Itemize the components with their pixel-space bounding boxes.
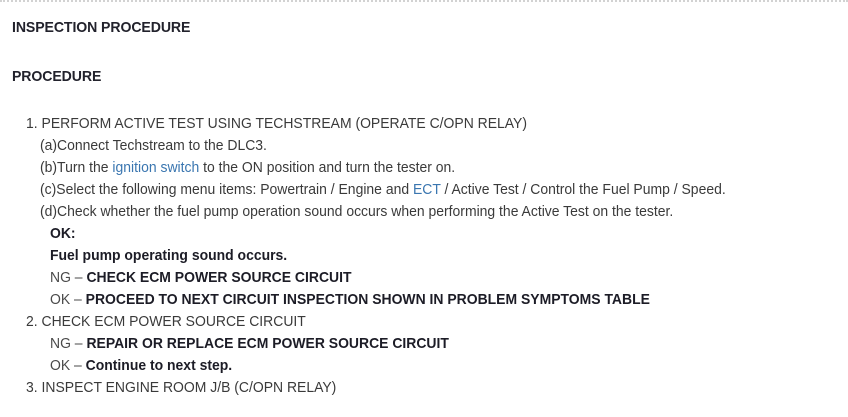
result-branch-line: OK – Continue to next step.: [50, 355, 792, 377]
result-branch-action: REPAIR OR REPLACE ECM POWER SOURCE CIRCU…: [83, 335, 449, 352]
result-branch-line: OK – PROCEED TO NEXT CIRCUIT INSPECTION …: [50, 289, 792, 311]
result-branch-tag: NG –: [50, 335, 83, 352]
step-title: PERFORM ACTIVE TEST USING TECHSTREAM (OP…: [38, 115, 527, 132]
result-branch-tag: OK –: [50, 357, 82, 374]
substep-text-before-link: Select the following menu items: Powertr…: [56, 181, 413, 198]
result-branch-line: NG – CHECK ECM POWER SOURCE CIRCUIT: [50, 267, 792, 289]
result-branch-action: CHECK ECM POWER SOURCE CIRCUIT: [83, 269, 352, 286]
substep-label: (d): [40, 203, 57, 220]
substep-text-before-link: Connect Techstream to the DLC3.: [57, 137, 267, 154]
substep-reference-link[interactable]: ignition switch: [112, 159, 199, 176]
procedure-step: 3. INSPECT ENGINE ROOM J/B (C/OPN RELAY): [0, 377, 848, 399]
step-title: INSPECT ENGINE ROOM J/B (C/OPN RELAY): [38, 379, 337, 396]
top-dotted-rule: [0, 0, 848, 2]
substep-text-after-link: / Active Test / Control the Fuel Pump / …: [441, 181, 726, 198]
step-title-line: 1. PERFORM ACTIVE TEST USING TECHSTREAM …: [26, 113, 790, 135]
substep-text-before-link: Check whether the fuel pump operation so…: [57, 203, 673, 220]
result-branch-action: PROCEED TO NEXT CIRCUIT INSPECTION SHOWN…: [82, 291, 650, 308]
step-number: 1.: [26, 115, 38, 132]
procedure-step: 1. PERFORM ACTIVE TEST USING TECHSTREAM …: [0, 113, 848, 311]
procedure-step: 2. CHECK ECM POWER SOURCE CIRCUITNG – RE…: [0, 311, 848, 377]
substep-text-before-link: Turn the: [57, 159, 112, 176]
substep-line: (d)Check whether the fuel pump operation…: [40, 201, 791, 223]
page-title-inspection-procedure: INSPECTION PROCEDURE: [12, 19, 798, 36]
result-branch-tag: NG –: [50, 269, 83, 286]
result-branch-line: NG – REPAIR OR REPLACE ECM POWER SOURCE …: [50, 333, 792, 355]
ok-criterion-label: OK:: [50, 223, 792, 245]
substep-label: (c): [40, 181, 56, 198]
ok-criterion-text: Fuel pump operating sound occurs.: [50, 245, 792, 267]
step-title-line: 2. CHECK ECM POWER SOURCE CIRCUIT: [26, 311, 790, 333]
substep-reference-link[interactable]: ECT: [413, 181, 441, 198]
step-title: CHECK ECM POWER SOURCE CIRCUIT: [38, 313, 306, 330]
procedure-step-list: 1. PERFORM ACTIVE TEST USING TECHSTREAM …: [0, 113, 848, 399]
substep-line: (c)Select the following menu items: Powe…: [40, 179, 791, 201]
substep-line: (b)Turn the ignition switch to the ON po…: [40, 157, 791, 179]
document-page: INSPECTION PROCEDURE PROCEDURE 1. PERFOR…: [0, 0, 848, 417]
substep-text-after-link: to the ON position and turn the tester o…: [199, 159, 455, 176]
step-number: 2.: [26, 313, 38, 330]
step-number: 3.: [26, 379, 38, 396]
step-title-line: 3. INSPECT ENGINE ROOM J/B (C/OPN RELAY): [26, 377, 790, 399]
substep-label: (b): [40, 159, 57, 176]
substep-line: (a)Connect Techstream to the DLC3.: [40, 135, 791, 157]
document-content: INSPECTION PROCEDURE PROCEDURE 1. PERFOR…: [0, 8, 848, 399]
substep-label: (a): [40, 137, 57, 154]
result-branch-action: Continue to next step.: [82, 357, 232, 374]
section-title-procedure: PROCEDURE: [12, 68, 798, 85]
result-branch-tag: OK –: [50, 291, 82, 308]
